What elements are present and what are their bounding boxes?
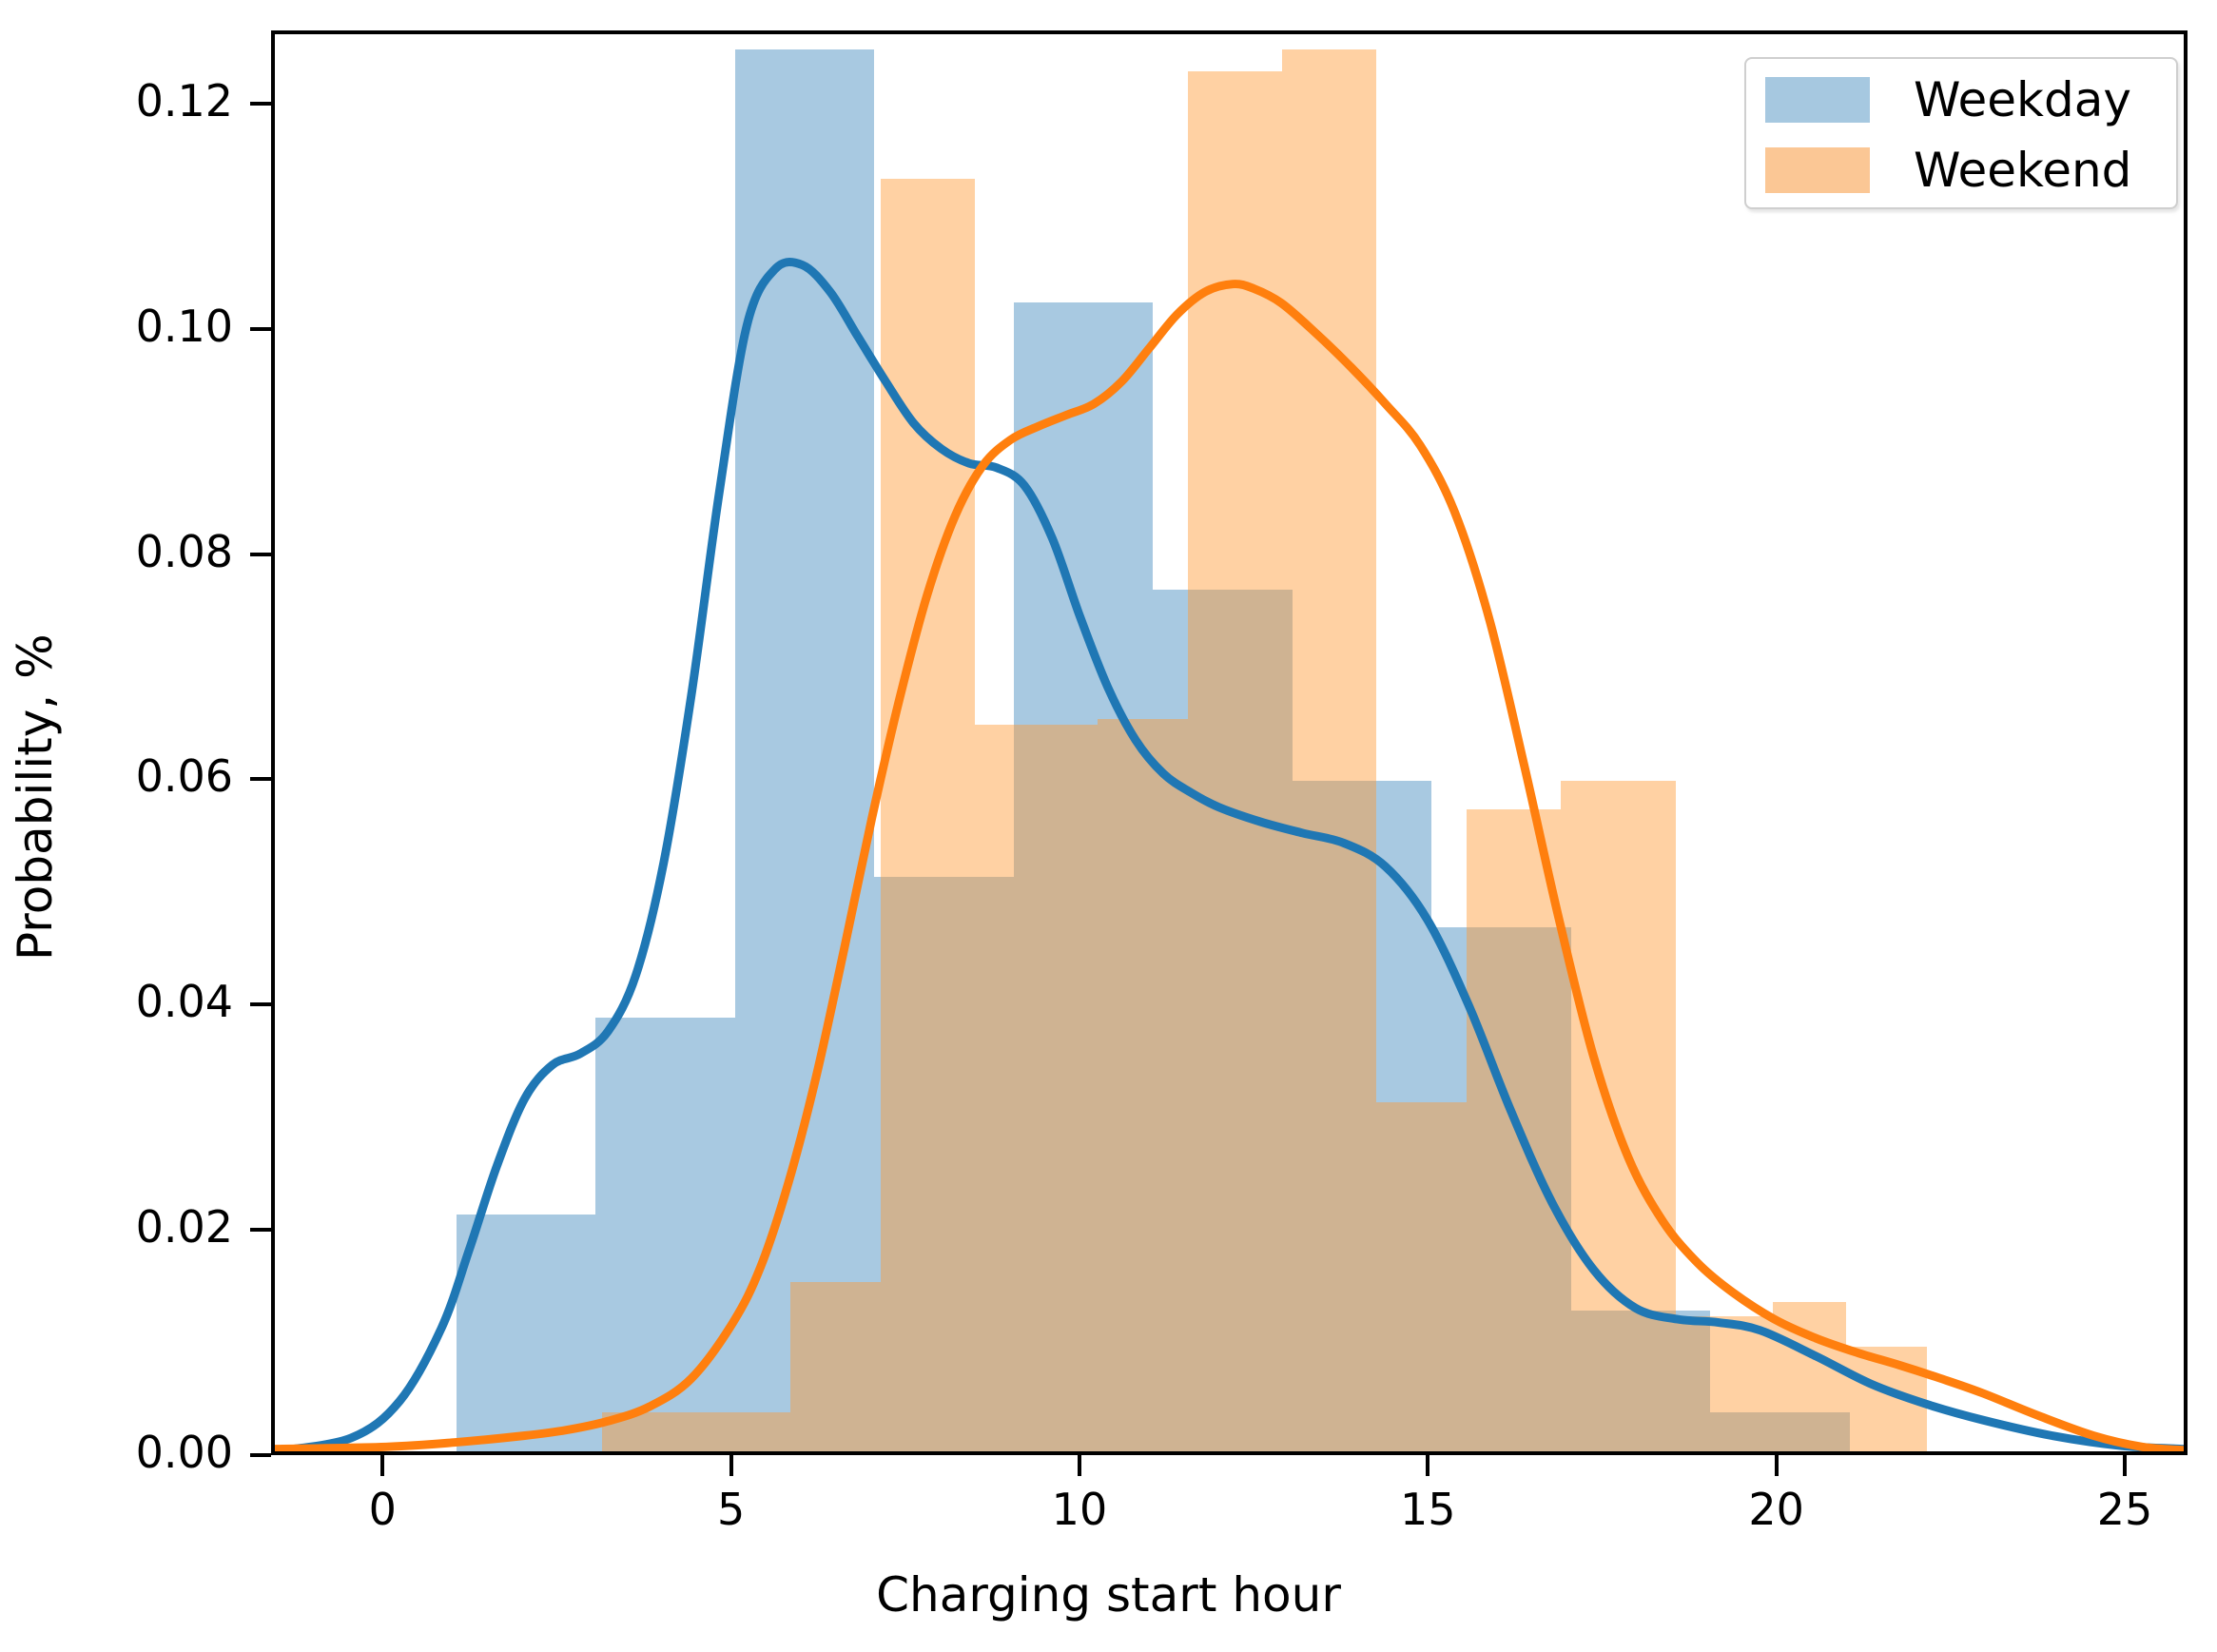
- y-tick-label: 0.10: [0, 301, 233, 352]
- x-tick-mark: [1775, 1455, 1779, 1476]
- weekend-kde-path: [275, 284, 2184, 1450]
- plot-inner: [275, 34, 2184, 1451]
- weekday-swatch-icon: [1765, 77, 1870, 123]
- legend-label-weekend: Weekend: [1914, 143, 2131, 198]
- x-tick-mark: [2123, 1455, 2127, 1476]
- y-tick-label: 0.08: [0, 526, 233, 577]
- y-tick-mark: [250, 102, 271, 106]
- x-tick-mark: [1078, 1455, 1081, 1476]
- y-tick-mark: [250, 1228, 271, 1232]
- legend-box[interactable]: Weekday Weekend: [1744, 57, 2178, 209]
- y-tick-mark: [250, 777, 271, 781]
- y-tick-mark: [250, 553, 271, 556]
- weekend-swatch-icon: [1765, 147, 1870, 193]
- x-tick-label: 20: [1682, 1484, 1872, 1535]
- weekday-kde-path: [275, 262, 2184, 1451]
- x-tick-label: 25: [2030, 1484, 2217, 1535]
- y-tick-label: 0.02: [0, 1201, 233, 1253]
- x-tick-mark: [729, 1455, 733, 1476]
- x-axis-title: Charging start hour: [0, 1567, 2217, 1623]
- x-tick-label: 15: [1332, 1484, 1523, 1535]
- y-axis-title: Probability, %: [8, 633, 63, 961]
- kde-curves: [275, 34, 2184, 1451]
- legend-label-weekday: Weekday: [1914, 72, 2131, 127]
- x-tick-mark: [380, 1455, 384, 1476]
- x-tick-label: 5: [636, 1484, 827, 1535]
- plot-area: [271, 30, 2188, 1455]
- y-tick-label: 0.12: [0, 75, 233, 126]
- x-tick-label: 10: [984, 1484, 1175, 1535]
- x-tick-label: 0: [287, 1484, 477, 1535]
- y-tick-mark: [250, 327, 271, 331]
- y-tick-mark: [250, 1453, 271, 1457]
- legend-item-weekday[interactable]: Weekday: [1765, 70, 2131, 129]
- y-tick-label: 0.04: [0, 976, 233, 1027]
- y-tick-mark: [250, 1002, 271, 1006]
- y-tick-label: 0.00: [0, 1427, 233, 1478]
- legend-item-weekend[interactable]: Weekend: [1765, 141, 2131, 200]
- figure-canvas: 0.000.020.040.060.080.100.12 0510152025 …: [0, 0, 2217, 1652]
- x-tick-mark: [1426, 1455, 1429, 1476]
